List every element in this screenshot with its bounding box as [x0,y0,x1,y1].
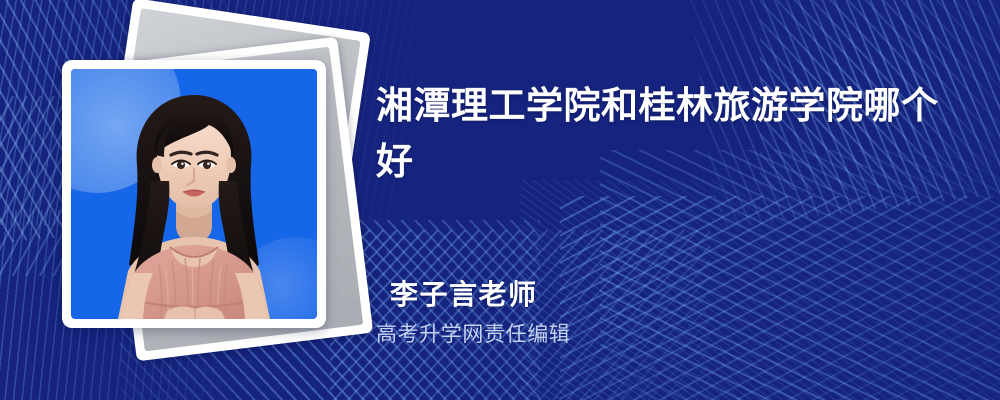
author-block: 李子言老师 高考升学网责任编辑 [376,277,936,348]
article-header-banner: 湘潭理工学院和桂林旅游学院哪个好 李子言老师 高考升学网责任编辑 [0,0,1000,400]
page-title: 湘潭理工学院和桂林旅游学院哪个好 [376,78,960,190]
text-column: 湘潭理工学院和桂林旅游学院哪个好 李子言老师 高考升学网责任编辑 [376,0,976,400]
photo-frame [62,60,326,328]
portrait-icon [71,69,317,319]
author-role: 高考升学网责任编辑 [376,320,936,348]
author-name: 李子言老师 [376,277,936,313]
author-portrait-photo [71,69,317,319]
photo-stack [62,36,350,348]
